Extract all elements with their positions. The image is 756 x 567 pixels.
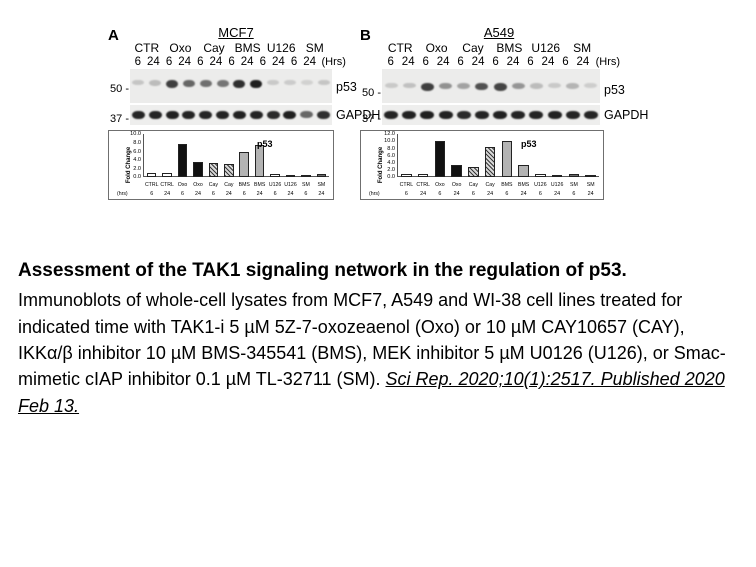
- lane-treatment-oxo: Oxo: [418, 42, 454, 56]
- chart-y-tick: 6.0: [133, 149, 141, 155]
- lane-hour-label: 6: [382, 56, 399, 69]
- blot-band: [385, 83, 398, 88]
- blot-band: [267, 111, 280, 119]
- figure-panel-b: B A549 CTROxoCayBMSU126SM 62462462462462…: [360, 24, 620, 200]
- chart-bar: [286, 175, 296, 177]
- lane-hour-label: 24: [574, 56, 591, 69]
- lane-hour-label: 24: [208, 56, 224, 69]
- chart-bar-slot: [159, 134, 174, 177]
- lane-hour-label: 6: [161, 56, 177, 69]
- panel-b-cellline-title: A549: [360, 26, 620, 40]
- chart-x-category-label: SM: [314, 183, 329, 188]
- chart-x-category-label: CTRL: [159, 183, 174, 188]
- chart-x-hour-label: 24: [159, 192, 174, 197]
- chart-x-category-label: SM: [566, 183, 583, 188]
- blot-band: [439, 83, 452, 89]
- chart-bar: [418, 174, 428, 177]
- chart-bar: [451, 165, 461, 177]
- hours-unit-label: (Hrs): [592, 56, 620, 69]
- chart-x-category-label: BMS: [499, 183, 516, 188]
- caption-title: Assessment of the TAK1 signaling network…: [18, 258, 734, 283]
- lane-treatment-u126: U126: [264, 42, 298, 56]
- chart-bar-slot: [549, 134, 566, 177]
- chart-x-hour-label: 6: [237, 192, 252, 197]
- chart-x-category-label: BMS: [237, 183, 252, 188]
- blot-band: [233, 80, 245, 88]
- chart-bar: [270, 174, 280, 177]
- chart-bar: [301, 175, 311, 177]
- blot-band: [584, 83, 597, 88]
- lane-hour-label: 6: [286, 56, 302, 69]
- panel-b-blot: 50 - 37 - p53 GAPDH: [360, 69, 620, 125]
- blot-band: [548, 111, 562, 119]
- blot-band: [183, 80, 195, 87]
- chart-x-hour-label: 6: [432, 192, 449, 197]
- lane-treatment-cay: Cay: [455, 42, 491, 56]
- blot-band: [200, 80, 212, 86]
- chart-bar-slot: [432, 134, 449, 177]
- chart-x-category-label: Oxo: [175, 183, 190, 188]
- chart-y-tick: 6.0: [387, 153, 395, 159]
- chart-bar-slot: [499, 134, 516, 177]
- chart-bar-slot: [283, 134, 298, 177]
- chart-bar: [224, 164, 234, 177]
- chart-bar-slot: [237, 134, 252, 177]
- lane-hour-label: 6: [224, 56, 240, 69]
- chart-bar: [585, 175, 595, 177]
- chart-x-hour-label: 6: [398, 192, 415, 197]
- blot-band: [566, 83, 579, 88]
- blot-band: [318, 80, 330, 85]
- blot-band: [132, 111, 145, 119]
- lane-treatment-sm: SM: [564, 42, 600, 56]
- chart-bar-slot: [566, 134, 583, 177]
- lane-hour-label: 6: [255, 56, 271, 69]
- blot-band: [149, 111, 162, 119]
- chart-title-p53: p53: [521, 139, 537, 149]
- blot-band: [402, 111, 416, 119]
- chart-bar-slot: [582, 134, 599, 177]
- chart-bar-slot: [465, 134, 482, 177]
- chart-hours-corner-label: (hrs): [117, 192, 128, 197]
- lane-hour-label: 24: [504, 56, 521, 69]
- caption-body: Immunoblots of whole-cell lysates from M…: [18, 287, 734, 419]
- chart-bar-slot: [415, 134, 432, 177]
- lane-hour-label: 6: [487, 56, 504, 69]
- panel-b-letter: B: [360, 28, 371, 43]
- blot-band: [250, 111, 263, 119]
- blot-band: [199, 111, 212, 119]
- lane-hour-label: 24: [239, 56, 255, 69]
- chart-x-category-label: Cay: [482, 183, 499, 188]
- blot-band: [283, 111, 296, 119]
- lane-hour-label: 24: [177, 56, 193, 69]
- chart-x-category-label: SM: [582, 183, 599, 188]
- chart-bar: [535, 174, 545, 178]
- panel-b-mw-50: 50 -: [362, 87, 381, 99]
- chart-bar: [147, 173, 157, 177]
- blot-band: [420, 111, 434, 119]
- blot-band: [384, 111, 398, 119]
- lane-hour-label: 24: [146, 56, 162, 69]
- chart-bar-slot: [398, 134, 415, 177]
- panel-b-p53-label: p53: [604, 83, 625, 97]
- chart-hours-corner-label: (hrs): [369, 192, 380, 197]
- chart-x-hour-label: 6: [175, 192, 190, 197]
- chart-bar: [518, 165, 528, 178]
- blot-band: [250, 80, 262, 88]
- chart-y-tick: 12.0: [384, 131, 395, 137]
- lane-treatment-bms: BMS: [491, 42, 527, 56]
- chart-x-hour-label: 24: [549, 192, 566, 197]
- blot-band: [216, 111, 229, 119]
- lane-treatment-u126: U126: [528, 42, 564, 56]
- panel-a-cellline-title: MCF7: [108, 26, 346, 40]
- chart-bar: [255, 145, 265, 177]
- hours-unit-label: (Hrs): [318, 56, 346, 69]
- panel-b-gapdh-blot-strip: [382, 105, 600, 125]
- blot-band: [217, 80, 229, 86]
- chart-x-hour-label: 6: [499, 192, 516, 197]
- lane-hour-label: 6: [130, 56, 146, 69]
- blot-band: [284, 80, 296, 85]
- figure-caption: Assessment of the TAK1 signaling network…: [18, 258, 734, 419]
- blot-band: [149, 80, 161, 85]
- lane-hour-label: 24: [399, 56, 416, 69]
- figure-area: A MCF7 CTROxoCayBMSU126SM 62462462462462…: [0, 0, 756, 240]
- chart-x-category-label: Oxo: [432, 183, 449, 188]
- chart-x-hour-label: 6: [267, 192, 282, 197]
- blot-band: [584, 111, 598, 119]
- panel-a-gapdh-blot-strip: [130, 105, 332, 125]
- chart-bar: [193, 162, 203, 177]
- chart-x-category-label: Oxo: [448, 183, 465, 188]
- blot-band: [566, 111, 580, 119]
- blot-band: [457, 83, 470, 89]
- figure-panel-a: A MCF7 CTROxoCayBMSU126SM 62462462462462…: [108, 24, 346, 200]
- blot-band: [132, 80, 144, 85]
- chart-x-hour-label: 6: [298, 192, 313, 197]
- blot-band: [421, 83, 434, 90]
- chart-bar-slot: [206, 134, 221, 177]
- lane-hour-label: 6: [417, 56, 434, 69]
- blot-band: [457, 111, 471, 119]
- chart-x-category-label: U126: [283, 183, 298, 188]
- lane-hour-label: 24: [302, 56, 318, 69]
- chart-bar: [317, 174, 327, 177]
- chart-x-hour-label: 24: [252, 192, 267, 197]
- panel-a-bar-chart: Fold Change10.08.06.04.02.00.0CTRLCTRLOx…: [108, 130, 334, 200]
- chart-x-hour-label: 6: [566, 192, 583, 197]
- lane-treatment-ctr: CTR: [130, 42, 164, 56]
- blot-band: [166, 111, 179, 119]
- chart-y-tick: 4.0: [387, 160, 395, 166]
- chart-x-hour-label: 6: [144, 192, 159, 197]
- blot-band: [530, 83, 543, 88]
- blot-band: [267, 80, 279, 85]
- chart-bar-slot: [298, 134, 313, 177]
- chart-bar-slot: [190, 134, 205, 177]
- panel-b-gapdh-label: GAPDH: [604, 108, 648, 122]
- chart-bar-slot: [144, 134, 159, 177]
- chart-x-hour-label: 24: [221, 192, 236, 197]
- panel-a-hour-labels: 624624624624624624(Hrs): [108, 56, 346, 69]
- lane-treatment-cay: Cay: [197, 42, 231, 56]
- chart-bar: [502, 141, 512, 177]
- blot-band: [475, 111, 489, 119]
- chart-x-category-label: Cay: [206, 183, 221, 188]
- panel-a-blot: 50 - 37 - p53 GAPDH: [108, 69, 346, 125]
- chart-x-category-label: CTRL: [398, 183, 415, 188]
- blot-band: [548, 83, 561, 88]
- blot-band: [233, 111, 246, 119]
- chart-y-tick: 2.0: [133, 166, 141, 172]
- panel-a-treatment-labels: CTROxoCayBMSU126SM: [108, 42, 346, 56]
- blot-band: [493, 111, 507, 119]
- chart-x-category-label: U126: [549, 183, 566, 188]
- panel-b-treatment-labels: CTROxoCayBMSU126SM: [360, 42, 620, 56]
- chart-bar: [239, 152, 249, 177]
- chart-x-hour-label: 24: [283, 192, 298, 197]
- chart-bar: [468, 167, 478, 178]
- chart-bar: [209, 163, 219, 177]
- chart-y-tick: 10.0: [130, 131, 141, 137]
- chart-x-hour-label: 24: [190, 192, 205, 197]
- chart-bar: [569, 174, 579, 177]
- chart-x-hour-label: 24: [314, 192, 329, 197]
- blot-band: [301, 80, 313, 85]
- lane-treatment-bms: BMS: [231, 42, 265, 56]
- panel-a-mw-37: 37 -: [110, 113, 129, 125]
- chart-x-category-label: CTRL: [415, 183, 432, 188]
- chart-bar-slot: [221, 134, 236, 177]
- blot-band: [166, 80, 178, 87]
- lane-hour-label: 24: [271, 56, 287, 69]
- blot-band: [317, 111, 330, 119]
- chart-bar-slot: [448, 134, 465, 177]
- chart-y-tick: 2.0: [387, 167, 395, 173]
- blot-band: [512, 83, 525, 89]
- panel-a-letter: A: [108, 28, 119, 43]
- chart-y-tick: 8.0: [133, 140, 141, 146]
- blot-band: [511, 111, 525, 119]
- chart-x-category-label: BMS: [252, 183, 267, 188]
- chart-x-hour-label: 6: [206, 192, 221, 197]
- panel-a-p53-label: p53: [336, 80, 357, 94]
- blot-band: [494, 83, 507, 90]
- chart-y-tick: 0.0: [133, 174, 141, 180]
- blot-band: [403, 83, 416, 88]
- panel-a-p53-blot-strip: [130, 69, 332, 103]
- chart-y-tick: 0.0: [387, 174, 395, 180]
- chart-x-category-label: SM: [298, 183, 313, 188]
- chart-x-category-label: CTRL: [144, 183, 159, 188]
- chart-x-category-label: Oxo: [190, 183, 205, 188]
- chart-bar-slot: [175, 134, 190, 177]
- panel-b-hour-labels: 624624624624624624(Hrs): [360, 56, 620, 69]
- chart-bar: [401, 174, 411, 177]
- chart-x-hour-label: 24: [515, 192, 532, 197]
- chart-x-hour-label: 24: [582, 192, 599, 197]
- chart-plot-area: [144, 134, 329, 177]
- panel-b-bar-chart: Fold Change12.010.08.06.04.02.00.0CTRLCT…: [360, 130, 604, 200]
- chart-x-hour-label: 24: [448, 192, 465, 197]
- chart-x-hour-label: 24: [482, 192, 499, 197]
- lane-treatment-sm: SM: [298, 42, 332, 56]
- chart-x-category-label: Cay: [465, 183, 482, 188]
- lane-hour-label: 6: [452, 56, 469, 69]
- chart-bar: [435, 141, 445, 177]
- panel-a-mw-50: 50 -: [110, 83, 129, 95]
- chart-x-category-label: U126: [532, 183, 549, 188]
- chart-y-tick: 8.0: [387, 146, 395, 152]
- panel-b-p53-blot-strip: [382, 69, 600, 103]
- chart-bar: [485, 147, 495, 177]
- lane-hour-label: 24: [539, 56, 556, 69]
- chart-x-category-label: Cay: [221, 183, 236, 188]
- chart-x-hour-label: 6: [532, 192, 549, 197]
- chart-y-tick: 4.0: [133, 157, 141, 163]
- lane-treatment-oxo: Oxo: [164, 42, 198, 56]
- chart-x-category-label: U126: [267, 183, 282, 188]
- blot-band: [182, 111, 195, 119]
- chart-bar-slot: [314, 134, 329, 177]
- blot-band: [300, 111, 313, 118]
- chart-y-tick: 10.0: [384, 138, 395, 144]
- chart-bar-slot: [482, 134, 499, 177]
- chart-plot-area: [398, 134, 599, 177]
- blot-band: [529, 111, 543, 119]
- lane-hour-label: 6: [557, 56, 574, 69]
- chart-bar: [162, 173, 172, 177]
- chart-x-category-label: BMS: [515, 183, 532, 188]
- panel-b-mw-37: 37 -: [362, 113, 381, 125]
- blot-band: [439, 111, 453, 119]
- chart-x-hour-label: 24: [415, 192, 432, 197]
- lane-hour-label: 24: [469, 56, 486, 69]
- chart-title-p53: p53: [257, 139, 273, 149]
- lane-hour-label: 6: [193, 56, 209, 69]
- chart-bar: [552, 175, 562, 177]
- lane-hour-label: 6: [522, 56, 539, 69]
- blot-band: [475, 83, 488, 90]
- lane-hour-label: 24: [434, 56, 451, 69]
- lane-treatment-ctr: CTR: [382, 42, 418, 56]
- chart-bar: [178, 144, 188, 178]
- chart-x-hour-label: 6: [465, 192, 482, 197]
